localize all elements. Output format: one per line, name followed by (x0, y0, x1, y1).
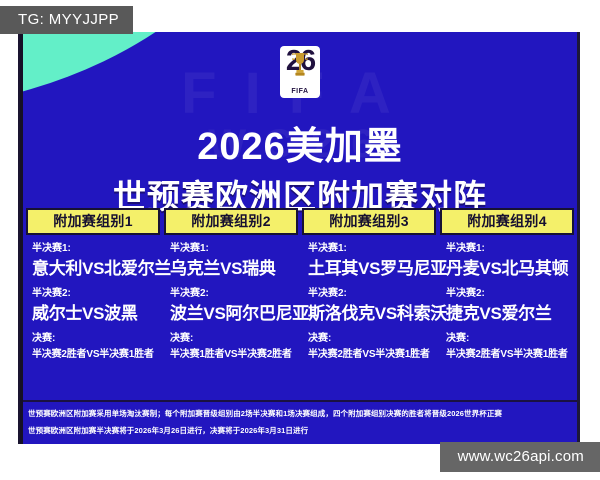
semifinal-1-label: 半决赛1: (308, 244, 430, 254)
final-match: 半决赛2胜者VS半决赛1胜者 (446, 350, 568, 360)
tg-tag: TG: MYYJJPP (0, 6, 133, 34)
poster-card: FIFA WC26 26 FIFA 2026美加墨 世预赛欧洲区附加赛对阵 附加… (20, 32, 580, 444)
group-body: 半决赛1: 意大利VS北爱尔兰 半决赛2: 威尔士VS波黑 决赛: 半决赛2胜者… (26, 235, 160, 368)
world-cup-trophy-icon (292, 51, 308, 90)
group-header: 附加赛组别4 (440, 208, 574, 235)
fifa-emblem: 26 FIFA (280, 46, 320, 98)
final-match: 半决赛2胜者VS半决赛1胜者 (308, 350, 430, 360)
semifinal-1-label: 半决赛1: (32, 244, 154, 254)
group-column-3: 附加赛组别3 半决赛1: 土耳其VS罗马尼亚 半决赛2: 斯洛伐克VS科索沃 决… (302, 208, 436, 368)
group-header: 附加赛组别3 (302, 208, 436, 235)
semifinal-1-label: 半决赛1: (170, 244, 292, 254)
semifinal-2-label: 半决赛2: (170, 289, 292, 299)
final-match: 半决赛1胜者VS半决赛2胜者 (170, 350, 292, 360)
semifinal-1-match: 意大利VS北爱尔兰 (32, 260, 154, 277)
group-header: 附加赛组别2 (164, 208, 298, 235)
emblem-org-label: FIFA (280, 88, 320, 95)
poster-right-edge (577, 32, 580, 444)
semifinal-2-match: 波兰VS阿尔巴尼亚 (170, 305, 292, 322)
semifinal-1-match: 土耳其VS罗马尼亚 (308, 260, 430, 277)
semifinal-2-match: 斯洛伐克VS科索沃 (308, 305, 430, 322)
final-match: 半决赛2胜者VS半决赛1胜者 (32, 350, 154, 360)
footer-notes: 世预赛欧洲区附加赛采用单场淘汰赛制；每个附加赛晋级组别由2场半决赛和1场决赛组成… (20, 400, 580, 444)
group-column-4: 附加赛组别4 半决赛1: 丹麦VS北马其顿 半决赛2: 捷克VS爱尔兰 决赛: … (440, 208, 574, 368)
footer-note-2: 世预赛欧洲区附加赛半决赛将于2026年3月26日进行，决赛将于2026年3月31… (28, 427, 572, 435)
group-body: 半决赛1: 丹麦VS北马其顿 半决赛2: 捷克VS爱尔兰 决赛: 半决赛2胜者V… (440, 235, 574, 368)
semifinal-2-label: 半决赛2: (446, 289, 568, 299)
group-column-1: 附加赛组别1 半决赛1: 意大利VS北爱尔兰 半决赛2: 威尔士VS波黑 决赛:… (26, 208, 160, 368)
group-column-2: 附加赛组别2 半决赛1: 乌克兰VS瑞典 半决赛2: 波兰VS阿尔巴尼亚 决赛:… (164, 208, 298, 368)
poster-left-edge (20, 32, 23, 444)
semifinal-1-label: 半决赛1: (446, 244, 568, 254)
group-grid: 附加赛组别1 半决赛1: 意大利VS北爱尔兰 半决赛2: 威尔士VS波黑 决赛:… (23, 208, 577, 368)
poster-title-main: 2026美加墨 (20, 128, 580, 166)
group-header: 附加赛组别1 (26, 208, 160, 235)
final-label: 决赛: (446, 334, 568, 344)
footer-note-1: 世预赛欧洲区附加赛采用单场淘汰赛制；每个附加赛晋级组别由2场半决赛和1场决赛组成… (28, 410, 572, 418)
semifinal-2-match: 捷克VS爱尔兰 (446, 305, 568, 322)
semifinal-1-match: 乌克兰VS瑞典 (170, 260, 292, 277)
final-label: 决赛: (170, 334, 292, 344)
final-label: 决赛: (32, 334, 154, 344)
semifinal-1-match: 丹麦VS北马其顿 (446, 260, 568, 277)
semifinal-2-label: 半决赛2: (308, 289, 430, 299)
group-body: 半决赛1: 乌克兰VS瑞典 半决赛2: 波兰VS阿尔巴尼亚 决赛: 半决赛1胜者… (164, 235, 298, 368)
group-body: 半决赛1: 土耳其VS罗马尼亚 半决赛2: 斯洛伐克VS科索沃 决赛: 半决赛2… (302, 235, 436, 368)
semifinal-2-match: 威尔士VS波黑 (32, 305, 154, 322)
site-watermark: www.wc26api.com (440, 442, 600, 472)
semifinal-2-label: 半决赛2: (32, 289, 154, 299)
final-label: 决赛: (308, 334, 430, 344)
